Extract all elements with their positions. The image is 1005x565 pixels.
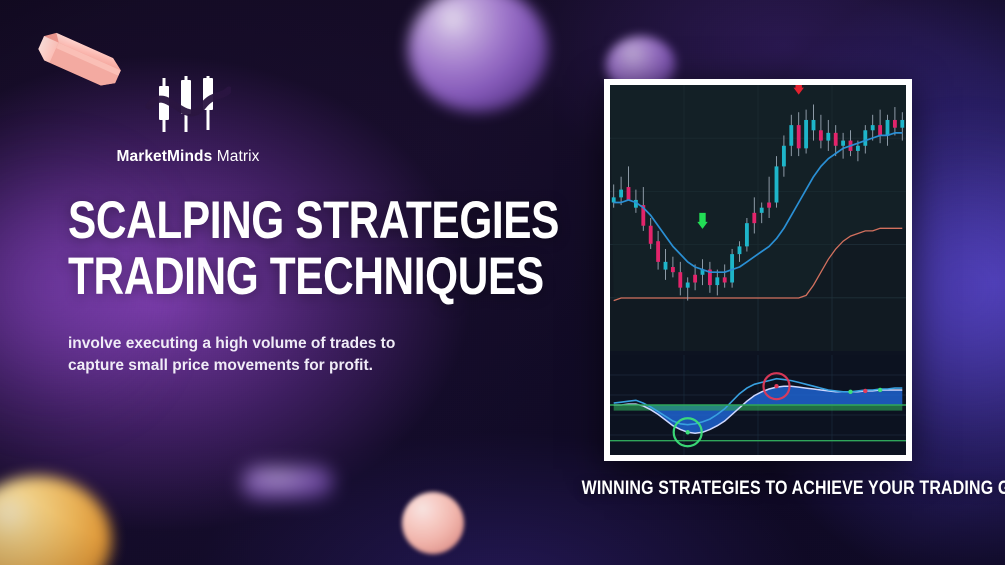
chart-canvas [610,85,906,455]
subtitle-line-2: capture small price movements for profit… [68,355,448,377]
brand-logo: MarketMinds Matrix [108,76,268,166]
headline-line-2: TRADING TECHNIQUES [68,252,404,303]
headline-line-1: SCALPING STRATEGIES [68,196,404,247]
trading-chart [610,85,906,455]
subtitle-copy: involve executing a high volume of trade… [68,333,448,377]
chart-card [604,79,912,461]
footer-tagline: WINNING STRATEGIES TO ACHIEVE YOUR TRADI… [582,478,935,500]
brand-name-bold: MarketMinds [116,148,212,165]
poster-canvas: MarketMinds Matrix SCALPING STRATEGIES T… [0,0,1005,565]
subtitle-line-1: involve executing a high volume of trade… [68,333,448,355]
brand-name: MarketMinds Matrix [116,148,259,166]
left-content-column: MarketMinds Matrix SCALPING STRATEGIES T… [68,76,488,377]
candlestick-slash-logo-icon [145,76,231,138]
brand-name-light: Matrix [217,148,260,165]
page-title: SCALPING STRATEGIES TRADING TECHNIQUES [68,196,488,303]
